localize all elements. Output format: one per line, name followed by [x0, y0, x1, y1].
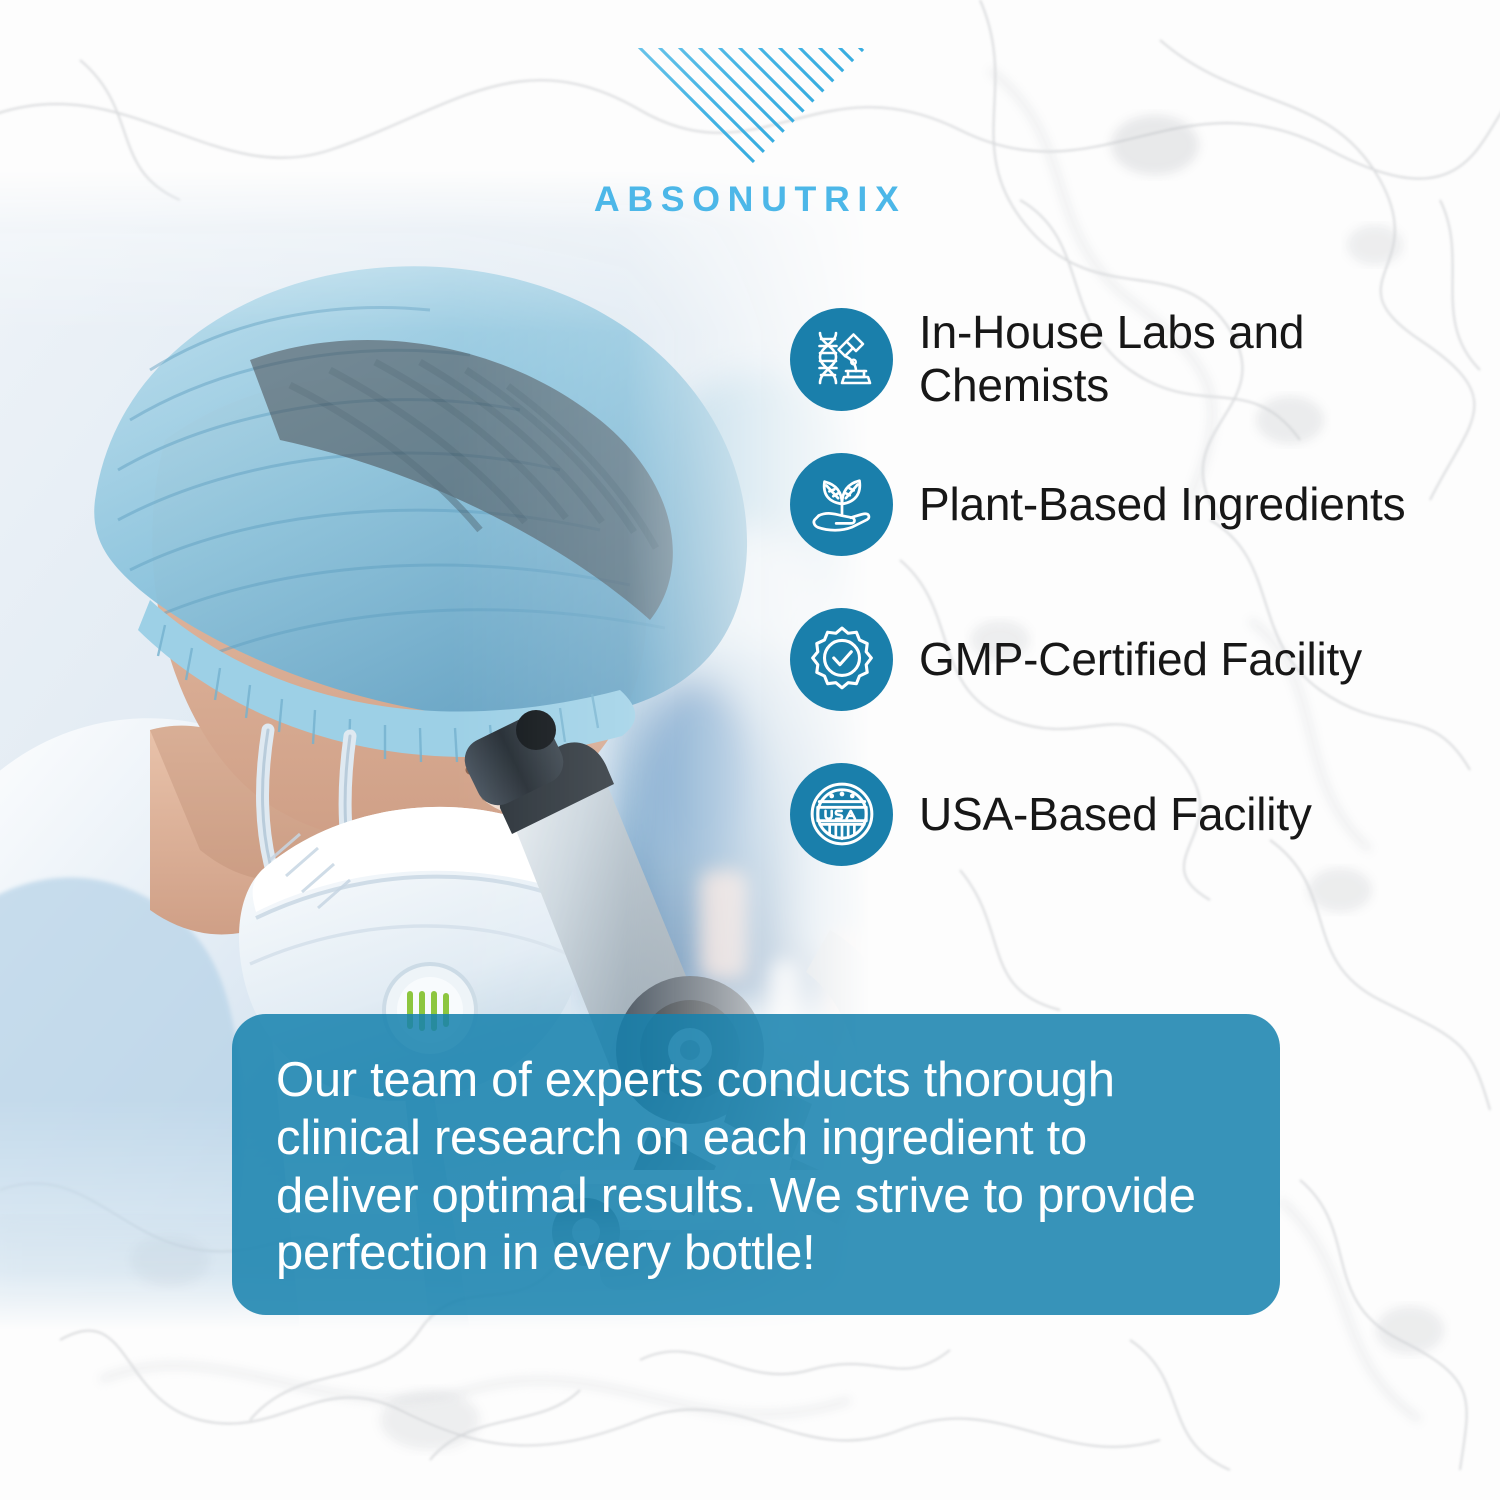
dna-microscope-icon — [790, 308, 893, 411]
brand-logo: ABSONUTRIX — [0, 44, 1500, 220]
feature-label: In-House Labs and Chemists — [919, 306, 1470, 413]
hand-holding-plant-icon — [790, 453, 893, 556]
brand-name: ABSONUTRIX — [594, 180, 907, 220]
statement-box: Our team of experts conducts thorough cl… — [232, 1014, 1280, 1315]
feature-item-in-house-labs[interactable]: In-House Labs and Chemists — [790, 306, 1470, 413]
certified-badge-check-icon — [790, 608, 893, 711]
striped-chevron-logo-icon — [630, 44, 870, 174]
feature-item-usa-based[interactable]: USA-Based Facility — [790, 763, 1470, 866]
feature-label: USA-Based Facility — [919, 788, 1312, 841]
infographic-canvas: ABSONUTRIX In-House Labs — [0, 0, 1500, 1500]
usa-globe-badge-icon — [790, 763, 893, 866]
statement-text: Our team of experts conducts thorough cl… — [276, 1052, 1232, 1283]
feature-label: GMP-Certified Facility — [919, 633, 1362, 686]
feature-list: In-House Labs and Chemists Plant-Based I… — [790, 306, 1470, 918]
feature-label: Plant-Based Ingredients — [919, 478, 1405, 531]
feature-item-plant-based[interactable]: Plant-Based Ingredients — [790, 453, 1470, 556]
feature-item-gmp-certified[interactable]: GMP-Certified Facility — [790, 608, 1470, 711]
